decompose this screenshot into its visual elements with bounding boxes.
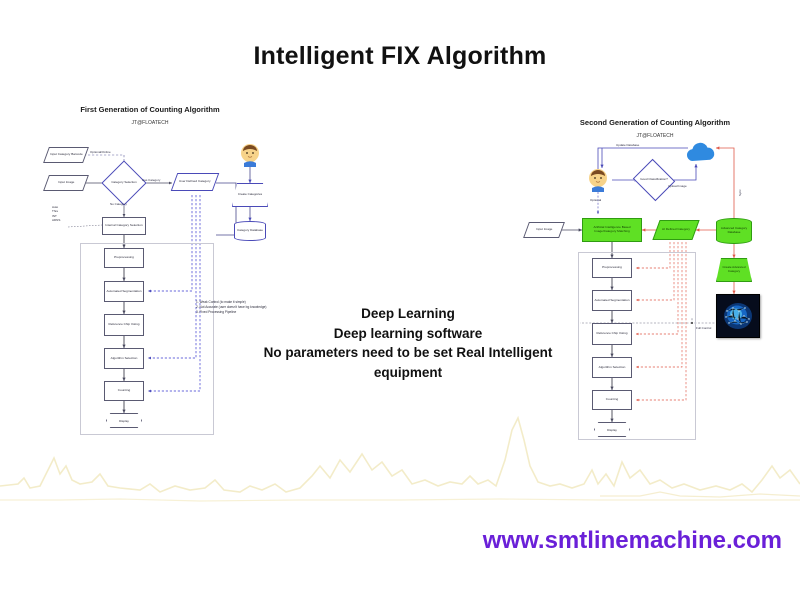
node-advanced-category-database[interactable]: Advanced Category Database	[716, 218, 752, 244]
website-url: www.smtlinemachine.com	[0, 527, 782, 555]
node-category-selection[interactable]: Category Selection	[108, 167, 140, 199]
edge-label-sync: Sync	[738, 189, 742, 196]
user-avatar-icon	[588, 168, 608, 192]
node-reference-chip-voting[interactable]: Reference Chip Voting	[592, 323, 632, 345]
node-good-classification-label: Good Classification?	[638, 166, 670, 194]
edge-label-optional: Optional/Online	[90, 150, 111, 154]
center-copy-line-1: Deep Learning	[258, 304, 558, 324]
node-internal-category-selection[interactable]: Internal Category Selection	[102, 217, 146, 235]
edge-label-no-category: No Category	[110, 202, 127, 206]
page-title: Intelligent FIX Algorithm	[0, 42, 800, 71]
edge-label-upload-image: Upload Image	[668, 184, 687, 188]
second-generation-diagram: Second Generation of Counting Algorithm …	[520, 118, 790, 438]
edge-label-has-category: Has Category	[142, 178, 160, 182]
edge-label-optional: Optional	[590, 198, 601, 202]
left-side-note: Auto Thre INT ADNS	[52, 205, 60, 222]
right-process-panel	[578, 252, 696, 440]
cloud-icon	[684, 142, 718, 164]
node-algorithm-selection[interactable]: Algorithm Selection	[592, 357, 632, 378]
node-automated-segmentation[interactable]: Automated Segmentation	[104, 281, 144, 302]
first-generation-diagram: First Generation of Counting Algorithm J…	[20, 105, 280, 435]
node-create-categories[interactable]: Create Categories	[232, 183, 268, 207]
node-preprocessing[interactable]: Preprocessing	[104, 248, 144, 268]
node-ai-defined-category[interactable]: AI Defined Category	[652, 220, 699, 240]
node-reference-chip-voting[interactable]: Reference Chip Voting	[104, 314, 144, 336]
node-ai-image-category-matching[interactable]: Artificial Intelligence Based Image/Cate…	[582, 218, 642, 242]
node-counting[interactable]: Counting	[592, 390, 632, 410]
node-algorithm-selection[interactable]: Algorithm Selection	[104, 348, 144, 369]
edge-label-full-control: Full Control	[696, 326, 711, 330]
node-user-defined-category[interactable]: User Defined Category	[171, 173, 220, 191]
slide-canvas: Intelligent FIX Algorithm Deep Learning …	[0, 0, 800, 600]
node-category-selection-label: Category Selection	[108, 167, 140, 199]
node-automated-segmentation[interactable]: Automated Segmentation	[592, 290, 632, 311]
node-create-advanced-category[interactable]: Create Advanced Category	[716, 258, 752, 282]
ai-brain-image	[716, 294, 760, 338]
center-copy-line-3: No parameters need to be set Real Intell…	[258, 343, 558, 382]
center-copy-line-2: Deep learning software	[258, 324, 558, 344]
node-counting[interactable]: Counting	[104, 381, 144, 401]
first-gen-issues-annotation: 1. Weak Control (to make it simple) 2. N…	[196, 300, 296, 314]
node-good-classification[interactable]: Good Classification?	[638, 166, 670, 194]
edge-label-update-database: Update Database	[616, 143, 639, 147]
center-copy-block: Deep Learning Deep learning software No …	[258, 304, 558, 382]
node-input-category-barcode[interactable]: Input Category Barcode	[43, 147, 89, 163]
left-process-panel	[80, 243, 214, 435]
node-input-image[interactable]: Input Image	[523, 222, 565, 238]
node-display[interactable]: Display	[106, 413, 142, 428]
node-input-image[interactable]: Input Image	[43, 175, 89, 191]
node-category-database[interactable]: Category Database	[234, 221, 266, 241]
user-avatar-icon	[240, 143, 260, 167]
node-display[interactable]: Display	[594, 422, 630, 437]
node-preprocessing[interactable]: Preprocessing	[592, 258, 632, 278]
